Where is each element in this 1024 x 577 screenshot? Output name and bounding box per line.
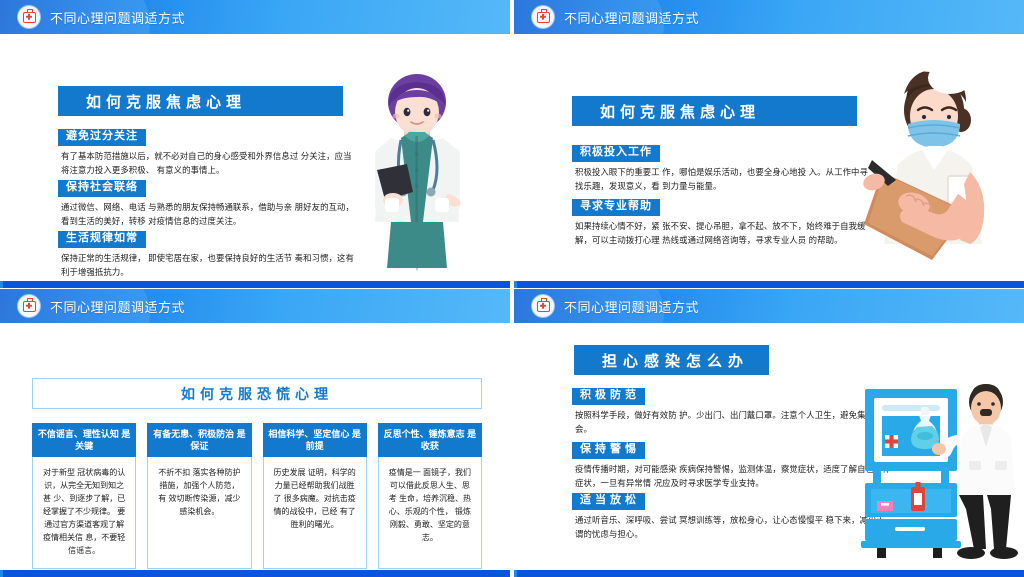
card-grid: 不信谣言、理性认知 是关键 对于新型 冠状病毒的认识，从完全无知到知之甚 少、到…: [32, 423, 482, 558]
slide-anxiety-2[interactable]: 不同心理问题调适方式 如何克服焦虑心理 积极投入工作 积极投入眼下的重要工 作，…: [514, 0, 1024, 288]
card-title: 不信谣言、理性认知 是关键: [32, 423, 136, 457]
section-1: 积极防范 按照科学手段，做好有效防 护。少出门、出门戴口罩。注意个人卫生，避免集…: [572, 385, 892, 443]
section-text: 保持正常的生活规律， 即使宅居在家，也要保持良好的生活节 奏和习惯，这有利于增强…: [61, 251, 356, 280]
section-text: 按照科学手段，做好有效防 护。少出门、出门戴口罩。注意个人卫生，避免集体聚会。: [575, 408, 892, 437]
section-3: 适当放松 通过听音乐、深呼吸、尝试 冥想训练等，放松身心，让心态慢慢平 稳下来，…: [572, 490, 892, 548]
section-2: 保持警惕 疫情传播时期，对可能感染 疾病保持警惕，监测体温，察觉症状，适度了解自…: [572, 439, 892, 497]
female-doctor-with-clipboard-illustration: [355, 72, 480, 272]
section-tag: 保持警惕: [572, 442, 645, 459]
card-title: 相信科学、坚定信心 是前提: [263, 423, 367, 457]
slide-footer-bar: [0, 570, 510, 577]
card-title: 有备无患、积极防治 是保证: [147, 423, 251, 457]
slide-footer-bar: [514, 570, 1024, 577]
section-text: 疫情传播时期，对可能感染 疾病保持警惕，监测体温，察觉症状，适度了解自己身体症状…: [575, 462, 892, 491]
panic-card[interactable]: 相信科学、坚定信心 是前提 历史发展 证明，科学的力量已经帮助我们战胜了 很多病…: [263, 423, 367, 569]
slide-body: 如何克服焦虑心理 避免过分关注 有了基本防范措施以后，就不必对自己的身心感受和外…: [0, 34, 510, 281]
section-3: 生活规律如常 保持正常的生活规律， 即使宅居在家，也要保持良好的生活节 奏和习惯…: [58, 228, 358, 286]
section-tag: 生活规律如常: [58, 231, 146, 248]
panic-card[interactable]: 不信谣言、理性认知 是关键 对于新型 冠状病毒的认识，从完全无知到知之甚 少、到…: [32, 423, 136, 569]
slide-anxiety-1[interactable]: 不同心理问题调适方式 如何克服焦虑心理 避免过分关注 有了基本防范措施以后，就不…: [0, 0, 510, 288]
first-aid-kit-icon: [18, 6, 40, 28]
slide-main-title: 担心感染怎么办: [574, 345, 769, 375]
card-text: 对于新型 冠状病毒的认识，从完全无知到知之甚 少、到逐步了解，已经掌握了不少规律…: [32, 457, 136, 569]
section-tag: 适当放松: [572, 493, 645, 510]
doctor-with-lab-cabinet-illustration: [859, 383, 1019, 563]
slide-panic[interactable]: 不同心理问题调适方式 如何克服恐慌心理 不信谣言、理性认知 是关键 对于新型 冠…: [0, 289, 510, 577]
section-1: 避免过分关注 有了基本防范措施以后，就不必对自己的身心感受和外界信息过 分关注，…: [58, 126, 358, 184]
card-text: 疫情是一 面镜子，我们可以借此反思人生、思考 生命，培养沉稳、热心、乐观的个性，…: [378, 457, 482, 569]
header-title: 不同心理问题调适方式: [564, 8, 699, 27]
slide-header: 不同心理问题调适方式: [0, 289, 510, 323]
section-1: 积极投入工作 积极投入眼下的重要工 作，哪怕是娱乐活动，也要全身心地投 入。从工…: [572, 142, 872, 200]
slide-main-title: 如何克服焦虑心理: [58, 86, 343, 116]
card-text: 历史发展 证明，科学的力量已经帮助我们战胜了 很多病魔。对抗击疫情的战役中，已经…: [263, 457, 367, 569]
slide-header: 不同心理问题调适方式: [0, 0, 510, 34]
nurse-writing-on-clipboard-illustration: [862, 54, 1010, 266]
card-text: 不折不扣 落实各种防护措施，加强个人防范，有 效切断传染源，减少感染机会。: [147, 457, 251, 569]
slide-footer-bar: [514, 281, 1024, 288]
header-title: 不同心理问题调适方式: [50, 297, 185, 316]
slide-thumbnail-grid: 不同心理问题调适方式 如何克服焦虑心理 避免过分关注 有了基本防范措施以后，就不…: [0, 0, 1024, 577]
section-tag: 寻求专业帮助: [572, 199, 660, 216]
slide-main-title: 如何克服焦虑心理: [572, 96, 857, 126]
slide-body: 如何克服焦虑心理 积极投入工作 积极投入眼下的重要工 作，哪怕是娱乐活动，也要全…: [514, 34, 1024, 281]
section-text: 有了基本防范措施以后，就不必对自己的身心感受和外界信息过 分关注，应当将注意力投…: [61, 149, 356, 178]
section-text: 通过听音乐、深呼吸、尝试 冥想训练等，放松身心，让心态慢慢平 稳下来，减少无谓的…: [575, 513, 892, 542]
first-aid-kit-icon: [18, 295, 40, 317]
header-title: 不同心理问题调适方式: [564, 297, 699, 316]
first-aid-kit-icon: [532, 295, 554, 317]
section-text: 积极投入眼下的重要工 作，哪怕是娱乐活动，也要全身心地投 入。从工作中寻找乐趣，…: [575, 165, 870, 194]
header-title: 不同心理问题调适方式: [50, 8, 185, 27]
section-text: 如果持续心情不好，紧 张不安、提心吊胆，拿不起、放不下，始终难于自我缓解，可以主…: [575, 219, 870, 248]
section-tag: 积极投入工作: [572, 145, 660, 162]
section-2: 寻求专业帮助 如果持续心情不好，紧 张不安、提心吊胆，拿不起、放不下，始终难于自…: [572, 196, 872, 254]
slide-body: 担心感染怎么办 积极防范 按照科学手段，做好有效防 护。少出门、出门戴口罩。注意…: [514, 323, 1024, 570]
slide-infection-worry[interactable]: 不同心理问题调适方式 担心感染怎么办 积极防范 按照科学手段，做好有效防 护。少…: [514, 289, 1024, 577]
section-tag: 积极防范: [572, 388, 645, 405]
section-tag: 避免过分关注: [58, 129, 146, 146]
slide-body: 如何克服恐慌心理 不信谣言、理性认知 是关键 对于新型 冠状病毒的认识，从完全无…: [0, 323, 510, 570]
card-title: 反思个性、锤炼意志 是收获: [378, 423, 482, 457]
first-aid-kit-icon: [532, 6, 554, 28]
panic-card[interactable]: 反思个性、锤炼意志 是收获 疫情是一 面镜子，我们可以借此反思人生、思考 生命，…: [378, 423, 482, 569]
section-text: 通过微信、网络、电话 与熟悉的朋友保持畅通联系，借助与亲 朋好友的互动，看到生活…: [61, 200, 356, 229]
slide-main-title: 如何克服恐慌心理: [32, 378, 482, 409]
section-tag: 保持社会联络: [58, 180, 146, 197]
panic-card[interactable]: 有备无患、积极防治 是保证 不折不扣 落实各种防护措施，加强个人防范，有 效切断…: [147, 423, 251, 569]
section-2: 保持社会联络 通过微信、网络、电话 与熟悉的朋友保持畅通联系，借助与亲 朋好友的…: [58, 177, 358, 235]
slide-header: 不同心理问题调适方式: [514, 0, 1024, 34]
slide-header: 不同心理问题调适方式: [514, 289, 1024, 323]
